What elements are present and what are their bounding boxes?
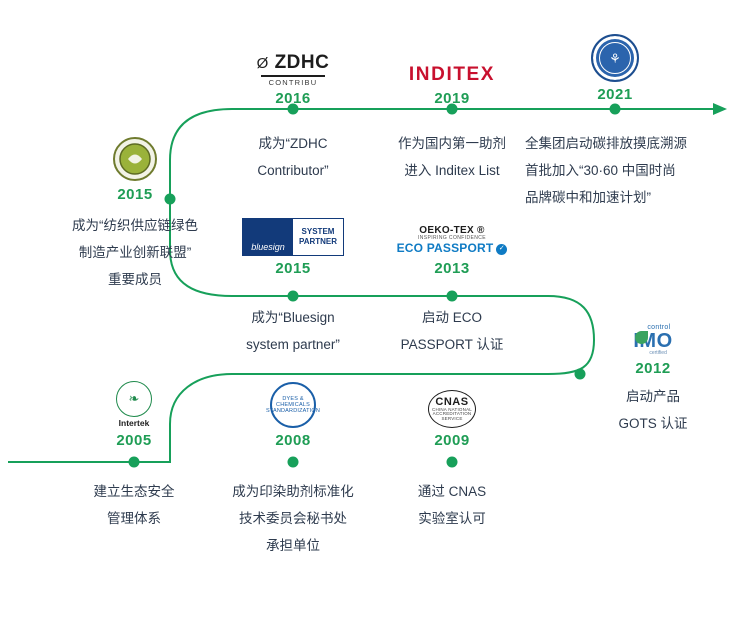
year-label: 2009: [362, 432, 542, 449]
blue-seal-icon: ⚘: [525, 26, 705, 82]
node-2012-gots: control IMO certified 2012 启动产品 GOTS 认证: [598, 300, 708, 437]
cnas-sub-label: CHINA NATIONAL ACCREDITATION SERVICE: [429, 408, 475, 422]
eco-passport-label: ECO PASSPORT: [397, 242, 494, 256]
year-label: 2005: [44, 432, 224, 449]
year-label: 2019: [362, 90, 542, 107]
zdhc-mark: Ø: [257, 55, 269, 72]
desc-line: 建立生态安全: [44, 478, 224, 505]
node-2016-zdhc: Ø ZDHC CONTRIBU 2016: [203, 30, 383, 107]
desc-line: 实验室认可: [362, 505, 542, 532]
blue-circle-label: DYES & CHEMICALS STANDARDIZATION: [270, 382, 316, 428]
desc-line: 作为国内第一助剂: [362, 130, 542, 157]
timeline-dot: [288, 457, 299, 468]
bluesign-logo: bluesign SYSTEM PARTNER: [203, 200, 383, 256]
desc-line: 全集团启动碳排放摸底溯源: [525, 130, 715, 157]
desc-line: 启动产品: [598, 383, 708, 410]
timeline-dot: [288, 291, 299, 302]
timeline-diagram: Ø ZDHC CONTRIBU 2016 成为“ZDHC Contributor…: [0, 0, 751, 631]
node-2015-bluesign: bluesign SYSTEM PARTNER 2015: [203, 200, 383, 277]
cnas-logo: CNAS CHINA NATIONAL ACCREDITATION SERVIC…: [362, 372, 542, 428]
node-2019-inditex: INDITEX 2019: [362, 30, 542, 107]
timeline-dot: [610, 104, 621, 115]
desc-line: 进入 Inditex List: [362, 157, 542, 184]
node-2013-ecopassport: OEKO-TEX ® INSPIRING CONFIDENCE ECO PASS…: [362, 200, 542, 277]
desc-line: 品牌碳中和加速计划”: [525, 184, 715, 211]
desc-line: 技术委员会秘书处: [203, 505, 383, 532]
desc-line: 成为“Bluesign: [203, 304, 383, 331]
year-label: 2016: [203, 90, 383, 107]
check-icon: ✓: [496, 244, 507, 255]
zdhc-logo: Ø ZDHC CONTRIBU: [203, 30, 383, 86]
node-2005-intertek: ❧ Intertek 2005: [44, 372, 224, 449]
node-2013-ecopassport-desc: 启动 ECO PASSPORT 认证: [362, 304, 542, 358]
node-2008-committee: DYES & CHEMICALS STANDARDIZATION 2008: [203, 372, 383, 449]
desc-line: system partner”: [203, 331, 383, 358]
year-label: 2008: [203, 432, 383, 449]
node-2009-cnas: CNAS CHINA NATIONAL ACCREDITATION SERVIC…: [362, 372, 542, 449]
desc-line: PASSPORT 认证: [362, 331, 542, 358]
timeline-dot: [447, 291, 458, 302]
zdhc-rule: [261, 75, 325, 77]
desc-line: Contributor”: [203, 157, 383, 184]
imo-control-logo: control IMO certified: [598, 300, 708, 356]
year-label: 2015: [45, 186, 225, 203]
desc-line: 成为印染助剂标准化: [203, 478, 383, 505]
zdhc-sub: CONTRIBU: [269, 79, 318, 87]
leaf-icon: ❧: [116, 381, 152, 417]
node-2005-intertek-desc: 建立生态安全 管理体系: [44, 478, 224, 532]
desc-line: 承担单位: [203, 532, 383, 559]
node-2021-carbon: ⚘ 2021: [525, 26, 705, 103]
node-2016-zdhc-desc: 成为“ZDHC Contributor”: [203, 130, 383, 184]
desc-line: 成为“ZDHC: [203, 130, 383, 157]
inditex-wordmark: INDITEX: [409, 64, 495, 86]
imo-sub-label: certified: [649, 351, 667, 356]
desc-line: GOTS 认证: [598, 410, 708, 437]
year-label: 2015: [203, 260, 383, 277]
node-2019-inditex-desc: 作为国内第一助剂 进入 Inditex List: [362, 130, 542, 184]
intertek-logo: ❧ Intertek: [44, 372, 224, 428]
timeline-dot: [129, 457, 140, 468]
blue-circle-standard-icon: DYES & CHEMICALS STANDARDIZATION: [203, 372, 383, 428]
desc-line: 启动 ECO: [362, 304, 542, 331]
bluesign-partner-label: SYSTEM PARTNER: [293, 219, 343, 255]
node-2008-committee-desc: 成为印染助剂标准化 技术委员会秘书处 承担单位: [203, 478, 383, 559]
year-label: 2012: [598, 360, 708, 377]
inditex-logo: INDITEX: [362, 30, 542, 86]
desc-line: 通过 CNAS: [362, 478, 542, 505]
green-medal-icon: [45, 126, 225, 182]
oeko-tex-eco-passport-logo: OEKO-TEX ® INSPIRING CONFIDENCE ECO PASS…: [362, 200, 542, 256]
node-2009-cnas-desc: 通过 CNAS 实验室认可: [362, 478, 542, 532]
node-2021-carbon-desc: 全集团启动碳排放摸底溯源 首批加入“30·60 中国时尚 品牌碳中和加速计划”: [525, 130, 715, 211]
intertek-wordmark: Intertek: [119, 418, 150, 428]
zdhc-name: ZDHC: [275, 52, 330, 73]
desc-line: 管理体系: [44, 505, 224, 532]
node-2015-alliance: 2015: [45, 126, 225, 203]
node-2015-bluesign-desc: 成为“Bluesign system partner”: [203, 304, 383, 358]
timeline-dot: [575, 369, 586, 380]
bluesign-wordmark: bluesign: [243, 219, 293, 255]
desc-line: 首批加入“30·60 中国时尚: [525, 157, 715, 184]
year-label: 2013: [362, 260, 542, 277]
year-label: 2021: [525, 86, 705, 103]
timeline-dot: [447, 457, 458, 468]
